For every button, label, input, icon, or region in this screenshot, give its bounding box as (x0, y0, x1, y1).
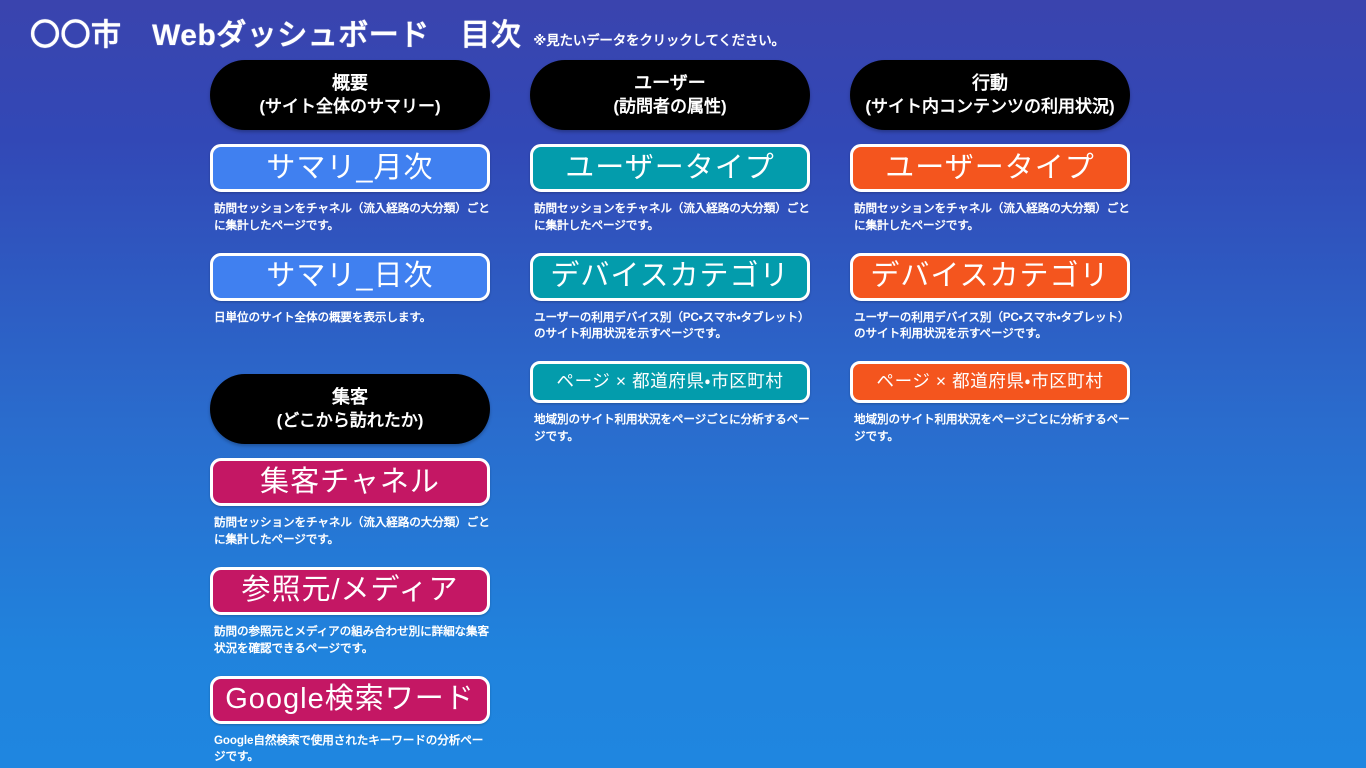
behavior-device-category-description: ユーザーの利用デバイス別（PC・スマホ・タブレット）のサイト利用状況を示すページ… (854, 310, 1130, 344)
section-heading-primary: 集客 (332, 386, 368, 410)
source-medium-button[interactable]: 参照元/メディア (210, 567, 490, 615)
section-heading-secondary: (どこから訪れたか) (277, 410, 424, 432)
user-type-button[interactable]: ユーザータイプ (530, 144, 810, 192)
section-heading-primary: 概要 (332, 72, 368, 96)
column-behavior: 行動(サイト内コンテンツの利用状況)ユーザータイプ訪問セッションをチャネル（流入… (850, 60, 1130, 446)
section-heading-primary: 行動 (972, 72, 1008, 96)
dashboard-index-board: 概要(サイト全体のサマリー)サマリ_月次訪問セッションをチャネル（流入経路の大分… (210, 60, 1356, 766)
page-header: 〇〇市 Webダッシュボード 目次 ※見たいデータをクリックしてください。 (30, 10, 785, 54)
summary-daily-description: 日単位のサイト全体の概要を表示します。 (214, 310, 490, 327)
behavior-page-x-region-description: 地域別のサイト利用状況をページごとに分析するページです。 (854, 412, 1130, 446)
section-acquisition-header-card: 集客(どこから訪れたか) (210, 374, 490, 444)
acquisition-channel-button[interactable]: 集客チャネル (210, 458, 490, 506)
device-category-button[interactable]: デバイスカテゴリ (530, 253, 810, 301)
google-search-word-button[interactable]: Google検索ワード (210, 676, 490, 724)
page-title: 〇〇市 Webダッシュボード 目次 (30, 10, 521, 54)
summary-daily-button[interactable]: サマリ_日次 (210, 253, 490, 301)
google-search-word-description: Google自然検索で使用されたキーワードの分析ページです。 (214, 733, 490, 767)
section-heading-secondary: (サイト内コンテンツの利用状況) (865, 96, 1114, 118)
user-type-description: 訪問セッションをチャネル（流入経路の大分類）ごとに集計したページです。 (534, 201, 810, 235)
section-heading-secondary: (サイト全体のサマリー) (259, 96, 440, 118)
section-heading-secondary: (訪問者の属性) (613, 96, 726, 118)
source-medium-description: 訪問の参照元とメディアの組み合わせ別に詳細な集客状況を確認できるページです。 (214, 624, 490, 658)
acquisition-channel-description: 訪問セッションをチャネル（流入経路の大分類）ごとに集計したページです。 (214, 515, 490, 549)
summary-monthly-description: 訪問セッションをチャネル（流入経路の大分類）ごとに集計したページです。 (214, 201, 490, 235)
section-heading-primary: ユーザー (634, 72, 706, 96)
section-spacer (210, 344, 490, 374)
device-category-description: ユーザーの利用デバイス別（PC・スマホ・タブレット）のサイト利用状況を示すページ… (534, 310, 810, 344)
behavior-user-type-description: 訪問セッションをチャネル（流入経路の大分類）ごとに集計したページです。 (854, 201, 1130, 235)
page-x-region-button[interactable]: ページ × 都道府県・市区町村 (530, 361, 810, 403)
section-user-header-card: ユーザー(訪問者の属性) (530, 60, 810, 130)
summary-monthly-button[interactable]: サマリ_月次 (210, 144, 490, 192)
behavior-user-type-button[interactable]: ユーザータイプ (850, 144, 1130, 192)
page-instruction-note: ※見たいデータをクリックしてください。 (533, 29, 785, 49)
behavior-device-category-button[interactable]: デバイスカテゴリ (850, 253, 1130, 301)
column-user: ユーザー(訪問者の属性)ユーザータイプ訪問セッションをチャネル（流入経路の大分類… (530, 60, 810, 446)
behavior-page-x-region-button[interactable]: ページ × 都道府県・市区町村 (850, 361, 1130, 403)
section-behavior-header-card: 行動(サイト内コンテンツの利用状況) (850, 60, 1130, 130)
section-overview-header-card: 概要(サイト全体のサマリー) (210, 60, 490, 130)
page-x-region-description: 地域別のサイト利用状況をページごとに分析するページです。 (534, 412, 810, 446)
column-overview: 概要(サイト全体のサマリー)サマリ_月次訪問セッションをチャネル（流入経路の大分… (210, 60, 490, 766)
